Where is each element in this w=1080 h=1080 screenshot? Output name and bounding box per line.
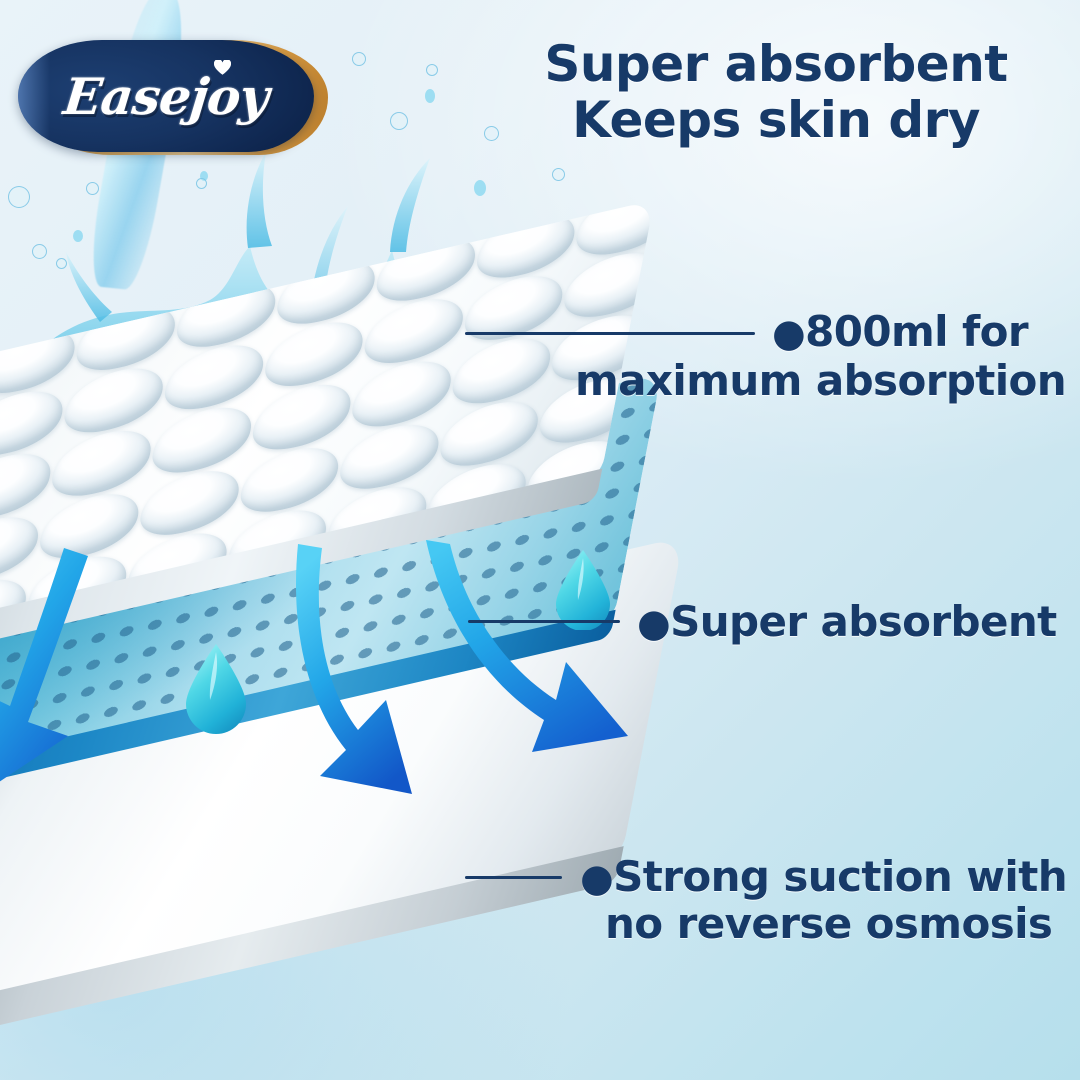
product-feature-poster: Easejoy Super absorbent Keeps skin dry ●…: [0, 0, 1080, 1080]
callout-leader-line: [465, 876, 562, 879]
callout-3-line-2: no reverse osmosis: [605, 899, 1052, 948]
callout-bullet-icon: ●: [580, 856, 613, 901]
callout-strong-suction: ●Strong suction with no reverse osmosis: [0, 0, 1080, 1080]
callout-3-line-1: ●Strong suction with: [580, 852, 1067, 901]
